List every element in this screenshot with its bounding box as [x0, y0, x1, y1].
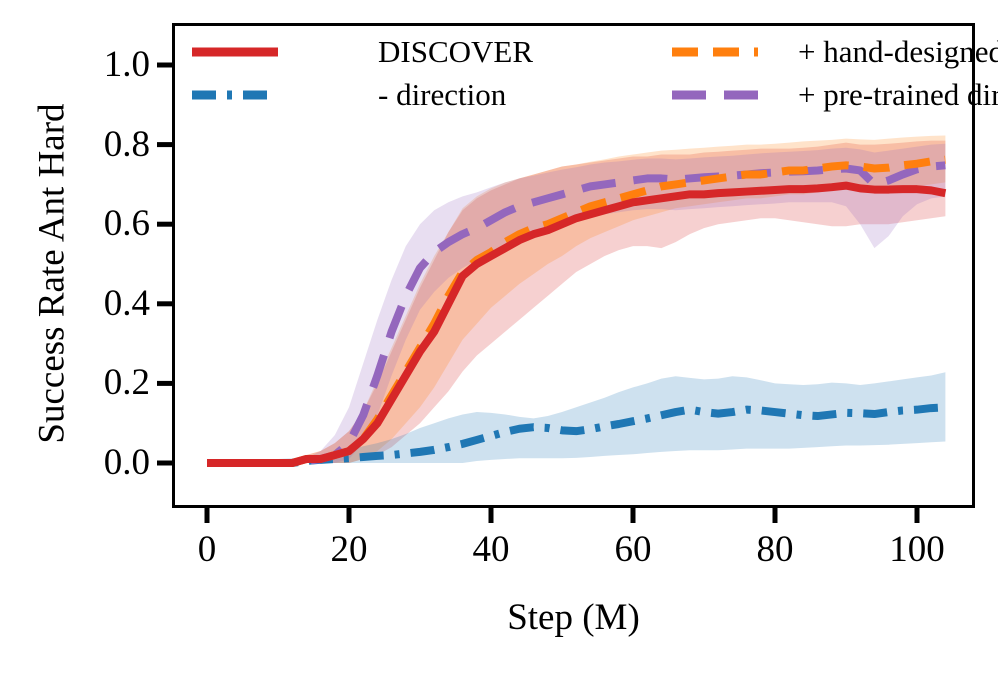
legend-label-minus-direction: - direction: [370, 77, 670, 113]
x-tick-label: 0: [147, 531, 267, 568]
x-tick-label: 80: [715, 531, 835, 568]
legend-label-discover: DISCOVER: [370, 34, 670, 70]
y-tick-label: 0.8: [40, 126, 150, 163]
legend-label-hand-designed: + hand-designed direction: [790, 34, 998, 70]
chart-legend: DISCOVER + hand-designed direction - dir…: [190, 30, 960, 116]
y-tick-label: 0.2: [40, 364, 150, 401]
legend-swatch-pre-trained: [670, 80, 790, 110]
y-tick-label: 0.0: [40, 444, 150, 481]
y-tick-label: 0.4: [40, 285, 150, 322]
legend-swatch-minus-direction: [190, 80, 370, 110]
y-tick-label: 1.0: [40, 46, 150, 83]
y-tick-label: 0.6: [40, 205, 150, 242]
x-tick-label: 40: [431, 531, 551, 568]
figure: Success Rate Ant Hard Step (M) 0.00.20.4…: [0, 0, 998, 676]
x-tick-label: 100: [857, 531, 977, 568]
y-axis-label: Success Rate Ant Hard: [31, 54, 74, 494]
legend-swatch-discover: [190, 37, 370, 67]
legend-label-pre-trained: + pre-trained direction: [790, 77, 998, 113]
legend-swatch-hand-designed: [670, 37, 790, 67]
x-axis-label: Step (M): [172, 596, 975, 639]
x-tick-label: 60: [573, 531, 693, 568]
x-tick-label: 20: [289, 531, 409, 568]
